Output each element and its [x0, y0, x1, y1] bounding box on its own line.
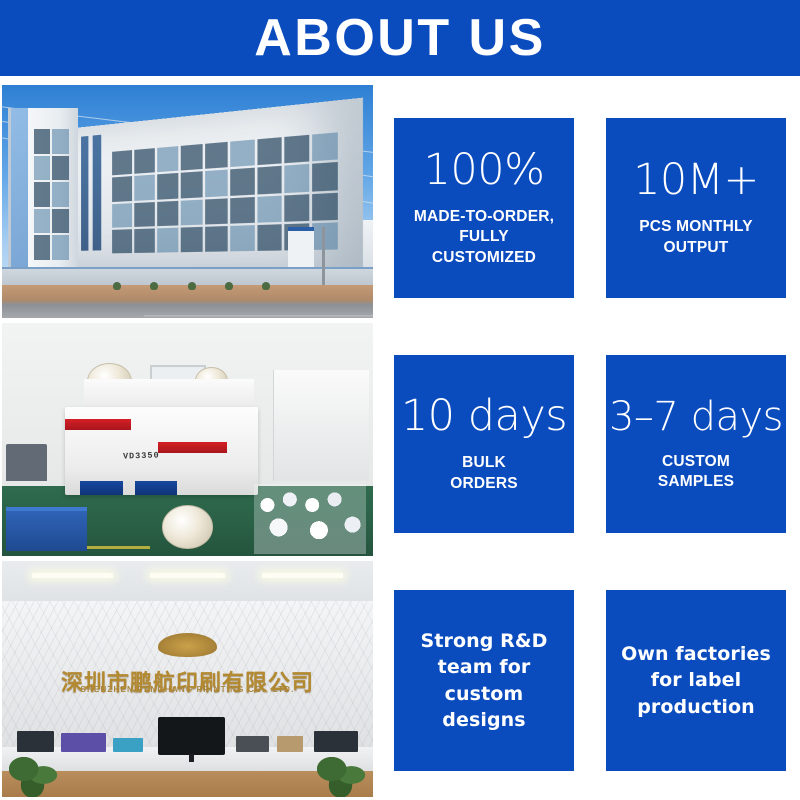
photo-printing-workshop: VD3350 [2, 323, 373, 556]
blue-storage-crate [6, 507, 88, 551]
potted-plant [9, 757, 57, 797]
paper-roll [162, 505, 214, 549]
guard-house [288, 227, 314, 267]
facade-accent-stripe [93, 134, 101, 251]
tower-window-grid [34, 129, 69, 260]
photo-factory-exterior [2, 85, 373, 318]
stat-label: Own factoriesfor labelproduction [621, 641, 771, 720]
stat-box-own-factories[interactable]: Own factoriesfor labelproduction [606, 590, 786, 771]
factory-stair-tower [8, 108, 78, 280]
photo-column: VD3350 深圳市鹏航印刷有限公司 SHENZHEN PENGHANG PRI… [2, 85, 373, 797]
foreground-ground [2, 285, 373, 318]
company-name-en: SHENZHEN PENGHANG PRINTING CO., LTD. [2, 685, 373, 694]
control-cabinet [273, 370, 369, 482]
office-ceiling [2, 561, 373, 601]
utility-pole [322, 227, 325, 290]
machine-model-label: VD3350 [123, 451, 160, 462]
desk-monitor [158, 717, 225, 755]
stat-box-rd-team[interactable]: Strong R&Dteam forcustom designs [394, 590, 574, 771]
finished-label-rolls [254, 484, 365, 554]
tower-accent-stripe [11, 108, 29, 280]
stat-box-monthly-output[interactable]: 10M+ PCS MONTHLYOUTPUT [606, 118, 786, 298]
workshop-chair [6, 444, 47, 481]
stat-value: 3–7 days [609, 396, 783, 438]
road [143, 315, 373, 318]
stats-grid: 100% MADE-TO-ORDER,FULLYCUSTOMIZED 10M+ … [394, 118, 790, 770]
page-title: ABOUT US [254, 12, 546, 64]
page-header-banner: ABOUT US [0, 0, 800, 76]
company-logo-emblem [158, 633, 217, 656]
photo-office-reception: 深圳市鹏航印刷有限公司 SHENZHEN PENGHANG PRINTING C… [2, 561, 373, 797]
stat-value: 10M+ [633, 158, 759, 203]
stat-label: Strong R&Dteam forcustom designs [402, 628, 566, 733]
facade-accent-stripe [81, 136, 89, 252]
stat-label: MADE-TO-ORDER,FULLYCUSTOMIZED [414, 207, 554, 268]
stat-label: CUSTOMSAMPLES [658, 452, 734, 493]
stat-value: 10 days [401, 394, 567, 439]
die-cutting-machine: VD3350 [65, 407, 258, 496]
stat-label: BULKORDERS [450, 453, 518, 494]
stat-value: 100% [424, 148, 545, 193]
stat-box-custom-samples[interactable]: 3–7 days CUSTOMSAMPLES [606, 355, 786, 533]
about-us-page: ABOUT US [0, 0, 800, 800]
stat-box-made-to-order[interactable]: 100% MADE-TO-ORDER,FULLYCUSTOMIZED [394, 118, 574, 298]
stat-box-bulk-orders[interactable]: 10 days BULKORDERS [394, 355, 574, 533]
potted-plant [317, 757, 365, 797]
stat-label: PCS MONTHLYOUTPUT [639, 217, 753, 258]
